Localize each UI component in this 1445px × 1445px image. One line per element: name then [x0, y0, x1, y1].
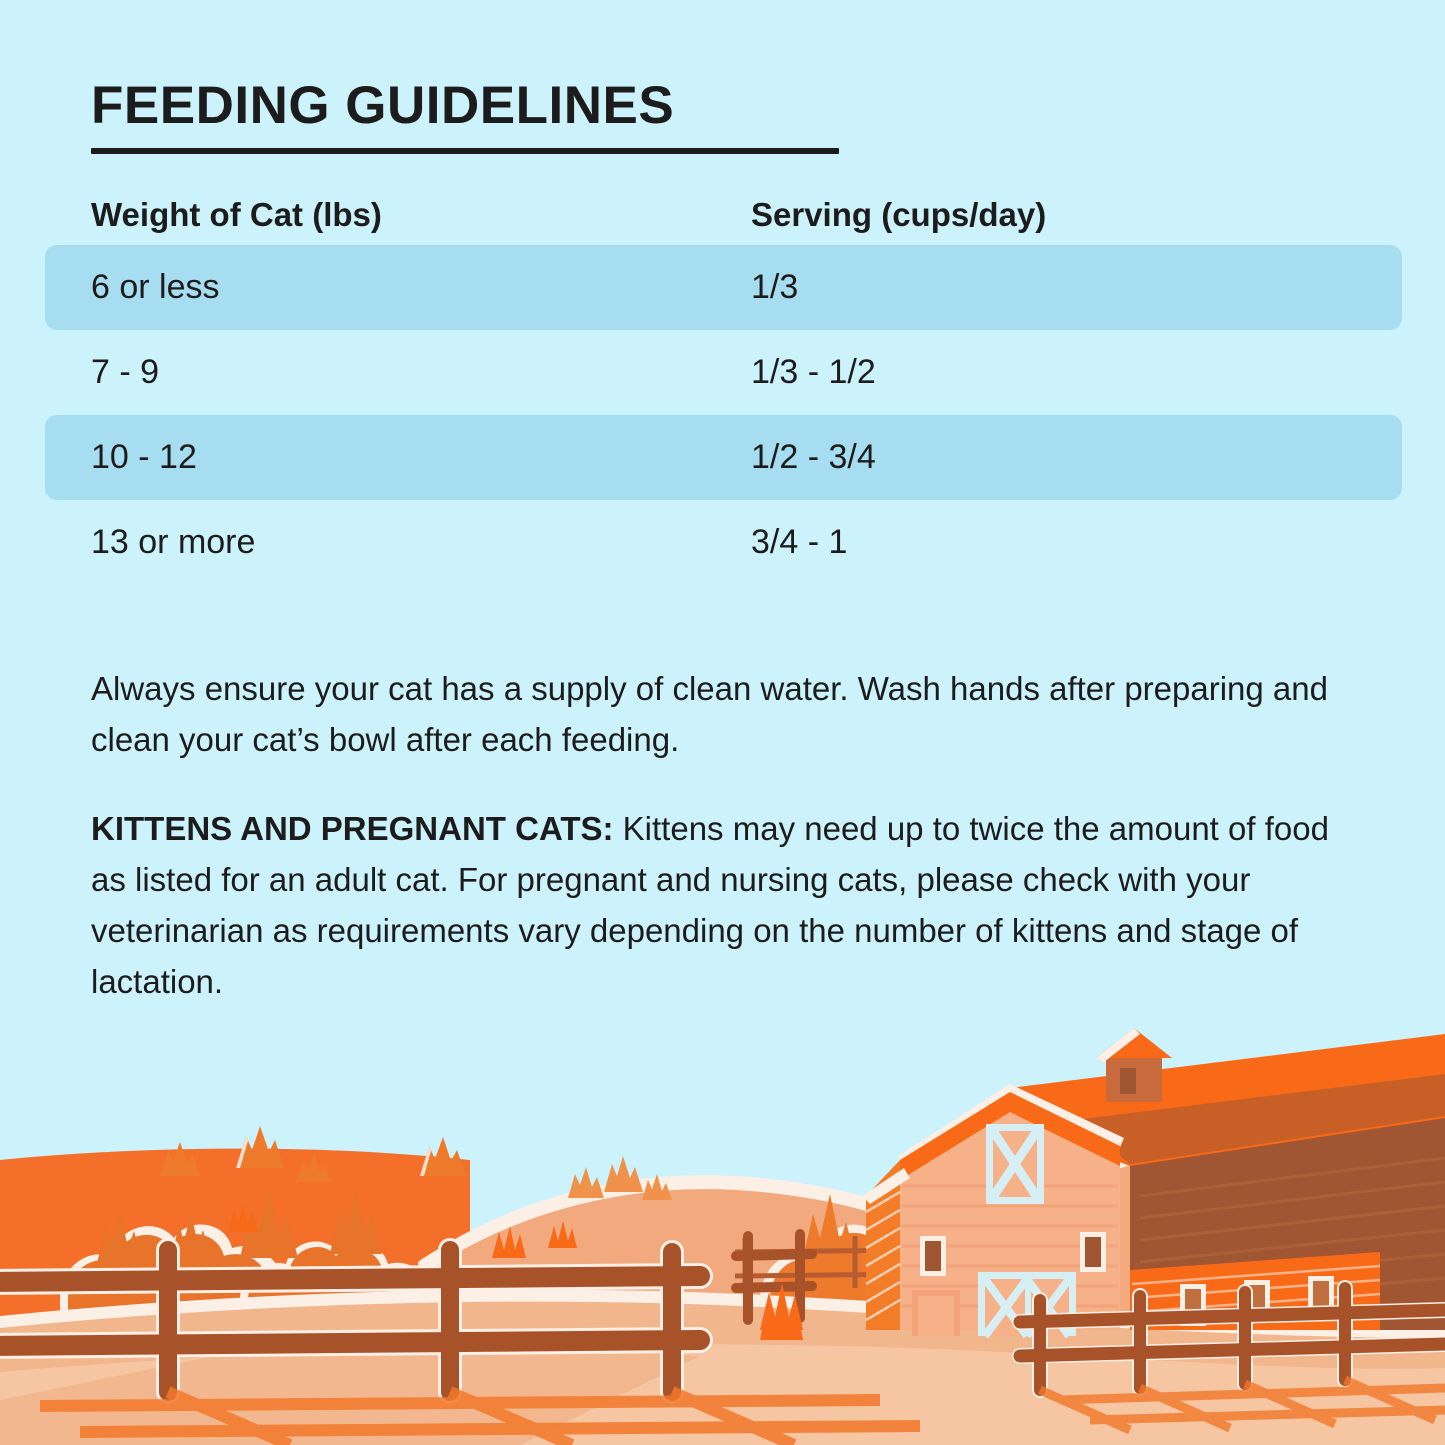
- barn-loft-door: [986, 1124, 1044, 1204]
- feeding-table: Weight of Cat (lbs) Serving (cups/day) 6…: [45, 183, 1402, 585]
- table-header-row: Weight of Cat (lbs) Serving (cups/day): [45, 183, 1402, 245]
- kittens-note-label: KITTENS AND PREGNANT CATS:: [91, 810, 614, 847]
- page-title: FEEDING GUIDELINES: [91, 78, 851, 134]
- cell-serving: 1/3 - 1/2: [751, 353, 1402, 392]
- cell-weight: 13 or more: [91, 523, 751, 562]
- column-header-serving: Serving (cups/day): [751, 196, 1402, 234]
- farm-scene-svg: [0, 1000, 1445, 1445]
- farm-scene-illustration: [0, 1000, 1445, 1445]
- water-note: Always ensure your cat has a supply of c…: [91, 663, 1363, 765]
- title-block: FEEDING GUIDELINES: [91, 78, 851, 154]
- cell-serving: 3/4 - 1: [751, 523, 1402, 562]
- table-row: 10 - 12 1/2 - 3/4: [45, 415, 1402, 500]
- table-row: 13 or more 3/4 - 1: [45, 500, 1402, 585]
- kittens-note: KITTENS AND PREGNANT CATS: Kittens may n…: [91, 803, 1363, 1008]
- table-row: 6 or less 1/3: [45, 245, 1402, 330]
- cell-weight: 6 or less: [91, 268, 751, 307]
- cell-weight: 7 - 9: [91, 353, 751, 392]
- column-header-weight: Weight of Cat (lbs): [91, 196, 751, 234]
- title-underline: [91, 148, 839, 154]
- cell-serving: 1/3: [751, 268, 1402, 307]
- cell-weight: 10 - 12: [91, 438, 751, 477]
- feeding-guidelines-panel: FEEDING GUIDELINES Weight of Cat (lbs) S…: [0, 0, 1445, 1445]
- cell-serving: 1/2 - 3/4: [751, 438, 1402, 477]
- barn-side-door: [912, 1290, 960, 1336]
- table-row: 7 - 9 1/3 - 1/2: [45, 330, 1402, 415]
